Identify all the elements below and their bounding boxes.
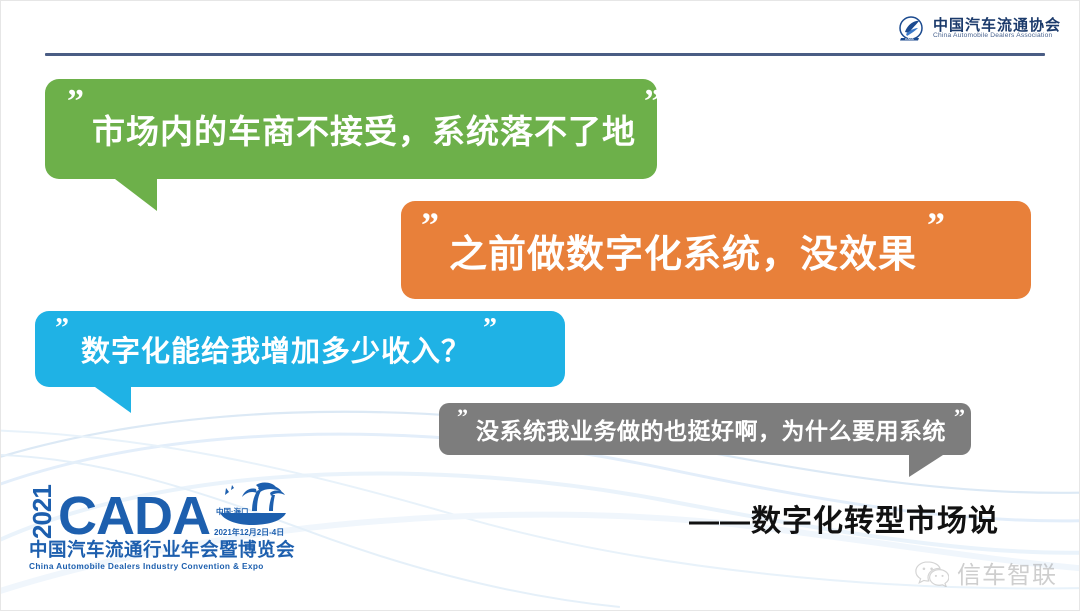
cada-event-logo: 2021 CADA 中国·海口 2021年12月2日-4日 中国汽车流通行业 (29, 477, 251, 569)
event-location: 中国·海口 (216, 506, 249, 517)
event-name-cn: 中国汽车流通行业年会暨博览会 (29, 540, 251, 560)
event-name-en: China Automobile Dealers Industry Conven… (29, 561, 251, 571)
quote-open-icon: ” (67, 85, 84, 119)
event-acronym: CADA (58, 493, 210, 539)
bubble-content: ” 市场内的车商不接受，系统落不了地 ” (45, 79, 657, 179)
bubble-text: 没系统我业务做的也挺好啊，为什么要用系统 (476, 412, 946, 446)
association-name-cn: 中国汽车流通协会 (933, 18, 1061, 34)
quote-open-icon: ” (421, 207, 439, 243)
wechat-icon (915, 559, 949, 587)
svg-text:CADA: CADA (905, 37, 914, 41)
event-year: 2021 (29, 481, 55, 539)
association-name-en: China Automobile Dealers Association (933, 33, 1064, 40)
bubble-tail (909, 455, 953, 477)
quote-open-icon: ” (55, 315, 69, 343)
speech-bubble-gray: ” 没系统我业务做的也挺好啊，为什么要用系统 ” (439, 403, 971, 455)
wechat-watermark: 信车智联 (915, 555, 1057, 590)
association-logo-text: 中国汽车流通协会 China Automobile Dealers Associ… (933, 18, 1061, 41)
palm-island-icon: 中国·海口 2021年12月2日-4日 (212, 479, 251, 539)
bubble-content: ” 没系统我业务做的也挺好啊，为什么要用系统 ” (439, 403, 971, 455)
quote-close-icon: ” (644, 85, 661, 119)
event-date: 2021年12月2日-4日 (214, 527, 284, 538)
slide-canvas: CADA 中国汽车流通协会 China Automobile Dealers A… (0, 0, 1080, 611)
speech-bubble-blue: ” 数字化能给我增加多少收入？ ” (35, 311, 565, 387)
bubble-tail (97, 179, 157, 211)
quote-close-icon: ” (954, 406, 965, 428)
bubble-content: ” 数字化能给我增加多少收入？ ” (35, 311, 565, 387)
bubble-tail (81, 387, 131, 413)
speech-bubble-orange: ” 之前做数字化系统，没效果 ” (401, 201, 1031, 299)
quote-close-icon: ” (483, 315, 497, 343)
quote-close-icon: ” (927, 207, 945, 243)
wechat-account-name: 信车智联 (957, 555, 1057, 590)
bubble-text: 市场内的车商不接受，系统落不了地 (92, 105, 636, 153)
quote-open-icon: ” (457, 406, 468, 428)
slide-caption: ——数字化转型市场说 (689, 496, 999, 540)
cada-association-logo-icon: CADA (896, 14, 926, 44)
speech-bubble-green: ” 市场内的车商不接受，系统落不了地 ” (45, 79, 657, 179)
header-divider (45, 53, 1045, 56)
association-logo: CADA 中国汽车流通协会 China Automobile Dealers A… (896, 13, 1061, 45)
bubble-content: ” 之前做数字化系统，没效果 ” (401, 201, 1031, 299)
cada-logo-top-row: 2021 CADA 中国·海口 2021年12月2日-4日 (29, 477, 251, 539)
bubble-text: 之前做数字化系统，没效果 (449, 223, 917, 278)
bubble-text: 数字化能给我增加多少收入？ (81, 328, 471, 370)
